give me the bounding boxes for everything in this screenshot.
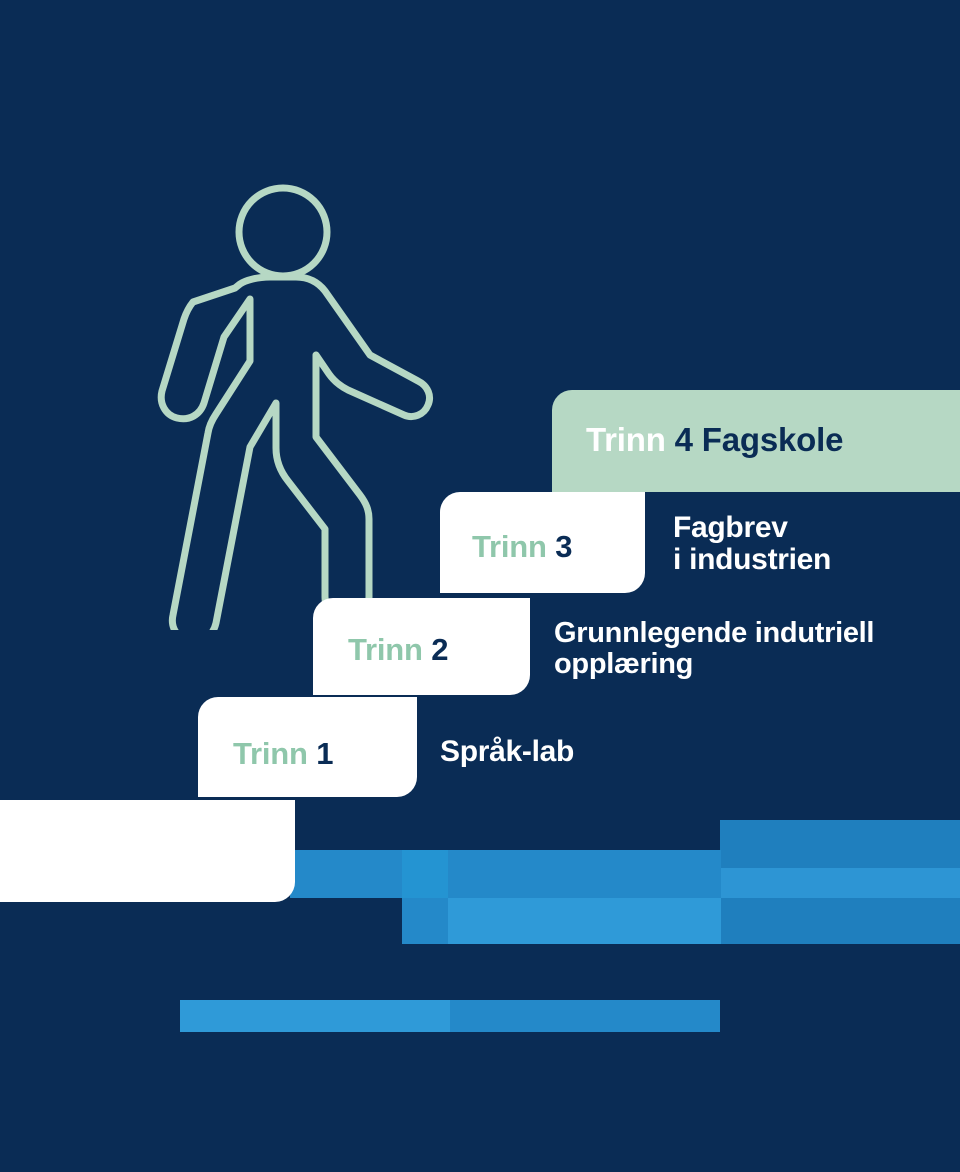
decor-bar-right-lower	[720, 898, 960, 944]
decor-bar-mid-wide-upper	[448, 850, 721, 898]
step-1-label-word: Trinn	[233, 736, 308, 771]
decor-bar-mid-thin	[290, 850, 405, 898]
decor-bar-mid-wide-lower	[448, 898, 721, 944]
step-2-label: Trinn 2	[348, 634, 448, 665]
decor-bar-bottom-left	[180, 1000, 450, 1032]
walking-person-icon	[120, 85, 450, 630]
step-4-label: Trinn 4 Fagskole	[586, 423, 843, 456]
infographic-canvas: Trinn 4 Fagskole Trinn 3 Trinn 2 Trinn 1…	[0, 0, 960, 1172]
decor-bar-mid-left-block	[402, 898, 448, 944]
step-1-label-number: 1	[316, 736, 333, 771]
decor-bar-right-mid	[720, 868, 960, 898]
step-3-description: Fagbrev i industrien	[673, 512, 831, 577]
step-3-label-word: Trinn	[472, 529, 547, 564]
step-2-label-number: 2	[431, 632, 448, 667]
step-1-description: Språk-lab	[440, 736, 574, 768]
step-2-label-word: Trinn	[348, 632, 423, 667]
decor-bar-mid-square	[402, 850, 448, 898]
step-4-label-number: 4 Fagskole	[675, 421, 844, 458]
decor-bar-bottom-right	[450, 1000, 720, 1032]
step-4-label-word: Trinn	[586, 421, 666, 458]
step-3-label: Trinn 3	[472, 531, 572, 562]
step-3-label-number: 3	[555, 529, 572, 564]
step-2-description: Grunnlegende indutriell opplæring	[554, 618, 874, 681]
decor-bar-right-upper	[720, 820, 960, 868]
step-1-label: Trinn 1	[233, 738, 333, 769]
step-platform-shape	[0, 800, 295, 902]
